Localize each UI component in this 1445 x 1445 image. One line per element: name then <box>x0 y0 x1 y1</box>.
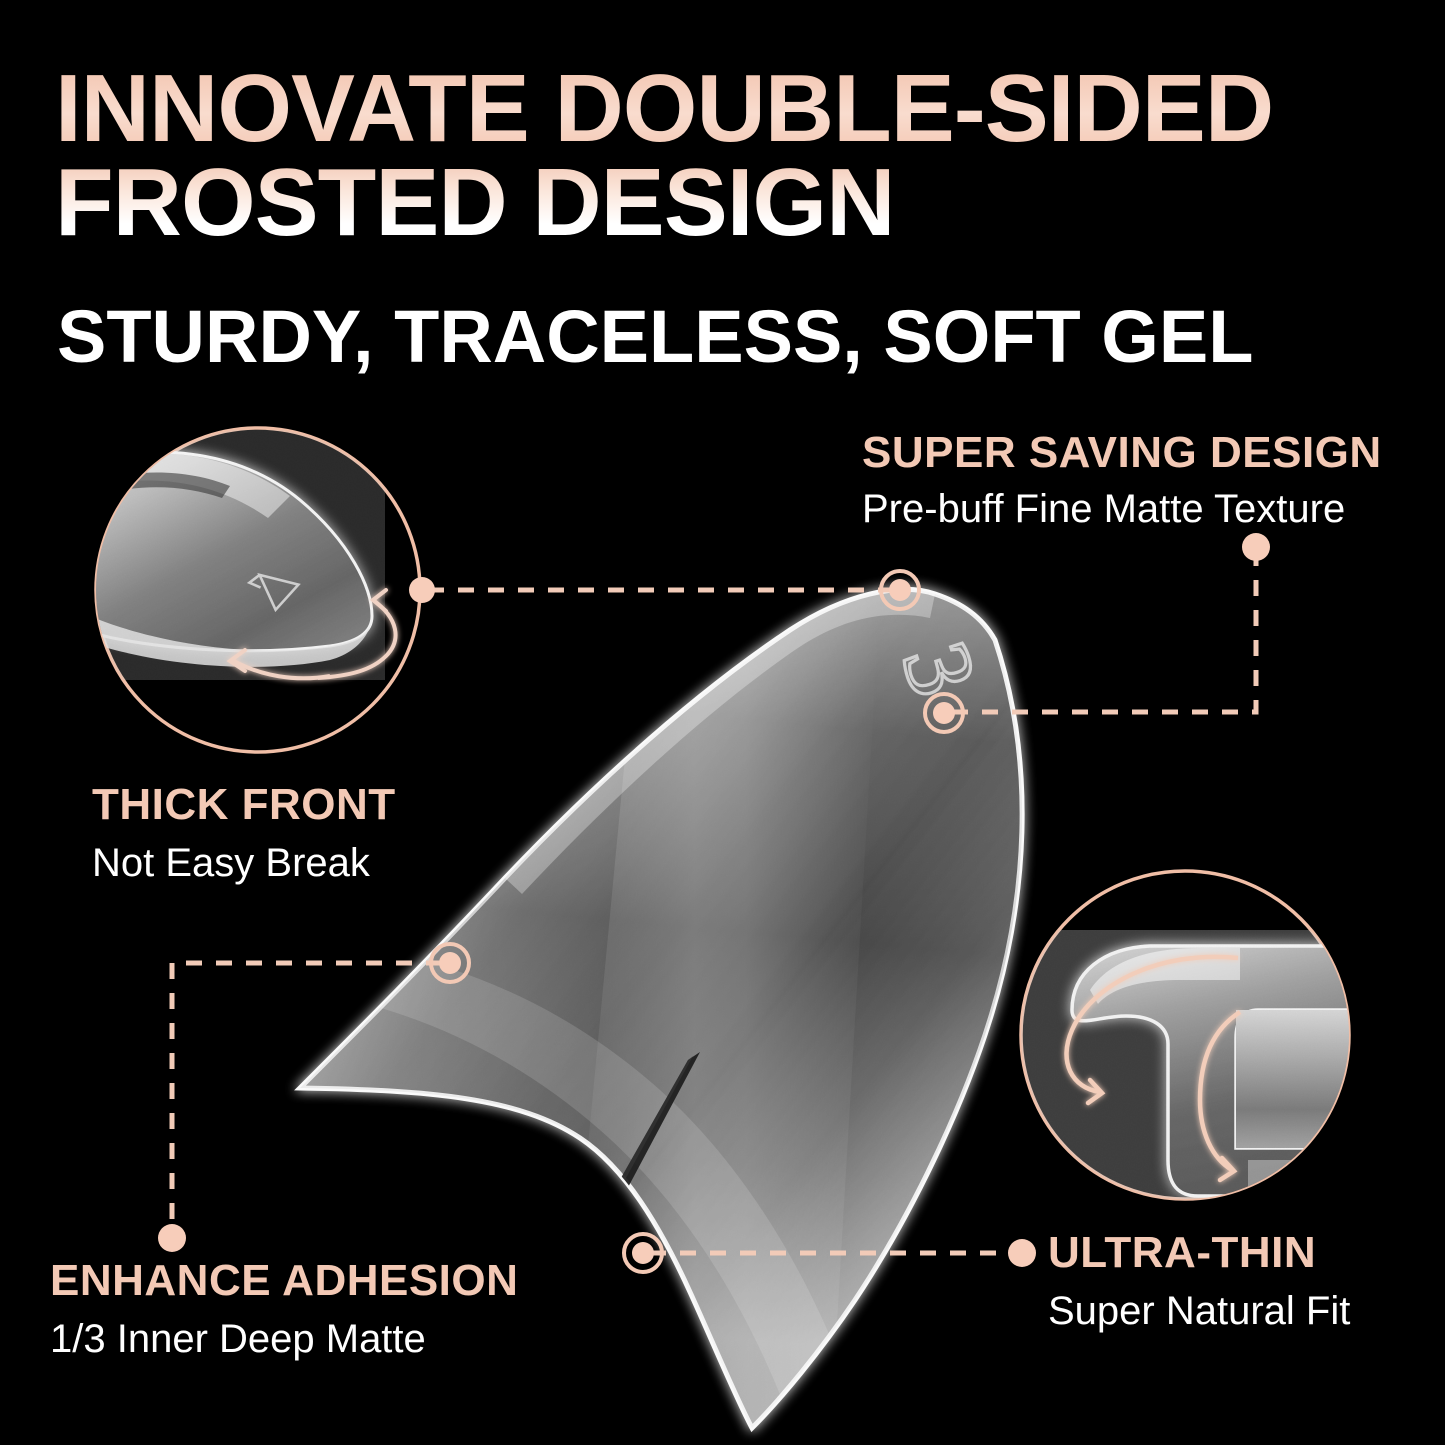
callout-subtitle: Not Easy Break <box>92 838 396 888</box>
callout-title: ENHANCE ADHESION <box>50 1256 518 1306</box>
callout-title: THICK FRONT <box>92 780 396 830</box>
inset-thick-front <box>40 428 420 752</box>
dot-thick-front-circle <box>409 577 435 603</box>
callout-subtitle: 1/3 Inner Deep Matte <box>50 1314 518 1364</box>
callout-super-saving-design: SUPER SAVING DESIGN Pre-buff Fine Matte … <box>862 428 1382 534</box>
callout-thick-front: THICK FRONT Not Easy Break <box>92 780 396 888</box>
callout-enhance-adhesion: ENHANCE ADHESION 1/3 Inner Deep Matte <box>50 1256 518 1364</box>
dot-ultra-thin-label <box>1008 1239 1036 1267</box>
headline-line-2: FROSTED DESIGN <box>55 156 1415 250</box>
callout-subtitle: Pre-buff Fine Matte Texture <box>862 484 1382 534</box>
infographic-poster: 3 <box>0 0 1445 1445</box>
dot-super-saving-label <box>1242 533 1270 561</box>
dot-enhance-adhesion-label <box>158 1224 186 1252</box>
headline-subline: STURDY, TRACELESS, SOFT GEL <box>57 300 1253 374</box>
callout-ultra-thin: ULTRA-THIN Super Natural Fit <box>1048 1228 1350 1336</box>
headline-line-1: INNOVATE DOUBLE-SIDED <box>55 62 1415 156</box>
inset-ultra-thin <box>1020 871 1445 1210</box>
callout-title: SUPER SAVING DESIGN <box>862 428 1382 478</box>
headline-block: INNOVATE DOUBLE-SIDED FROSTED DESIGN <box>55 62 1415 250</box>
callout-subtitle: Super Natural Fit <box>1048 1286 1350 1336</box>
callout-title: ULTRA-THIN <box>1048 1228 1350 1278</box>
